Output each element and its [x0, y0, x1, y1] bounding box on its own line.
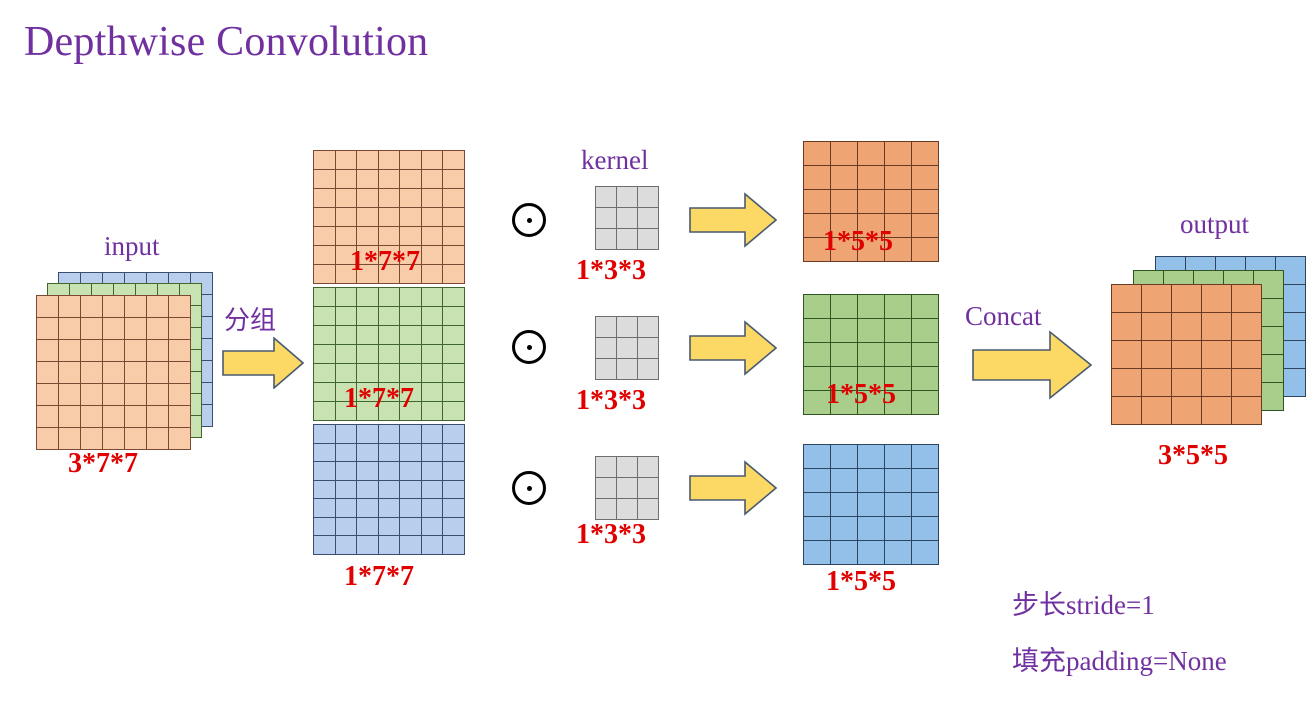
grid-cell — [422, 326, 444, 345]
blue-feature-map — [313, 424, 465, 555]
grid-cell — [422, 151, 444, 170]
grid-cell — [147, 340, 169, 362]
grid-cell — [379, 170, 401, 189]
green-feature-map-dims: 1*7*7 — [344, 383, 414, 415]
grid-cell — [443, 425, 465, 444]
grid-cell — [443, 518, 465, 537]
grid-cell — [357, 536, 379, 555]
grid-cell — [59, 384, 81, 406]
grid-cell — [1142, 341, 1172, 369]
grid-cell — [831, 166, 858, 190]
grid-cell — [336, 364, 358, 383]
grid-cell — [59, 406, 81, 428]
grid-cell — [314, 189, 336, 208]
grid-cell — [336, 499, 358, 518]
grid-cell — [422, 345, 444, 364]
grid-cell — [400, 189, 422, 208]
grid-cell — [831, 142, 858, 166]
grid-cell — [1172, 397, 1202, 425]
grid-cell — [912, 190, 939, 214]
green-result-map-dims: 1*5*5 — [826, 379, 896, 411]
grid-cell — [379, 481, 401, 500]
grid-cell — [357, 307, 379, 326]
grid-cell — [596, 208, 617, 229]
grid-cell — [422, 462, 444, 481]
group-arrow-label: 分组 — [224, 300, 276, 337]
grid-cell — [885, 469, 912, 493]
grid-cell — [443, 364, 465, 383]
grid-cell — [147, 318, 169, 340]
orange-result-map-dims: 1*5*5 — [823, 226, 893, 258]
grid-cell — [147, 362, 169, 384]
grid-cell — [169, 362, 191, 384]
grid-cell — [81, 318, 103, 340]
grid-cell — [804, 142, 831, 166]
grid-cell — [103, 428, 125, 450]
grid-cell — [1172, 369, 1202, 397]
grid-cell — [617, 187, 638, 208]
grid-cell — [596, 457, 617, 478]
grid-cell — [59, 428, 81, 450]
grid-cell — [858, 541, 885, 565]
input-dims-label: 3*7*7 — [68, 448, 138, 480]
grid-cell — [885, 343, 912, 367]
grid-cell — [314, 481, 336, 500]
grid-cell — [1232, 341, 1262, 369]
input-stack-orange-layer — [36, 295, 191, 450]
grid-cell — [804, 469, 831, 493]
grid-cell — [422, 246, 444, 265]
orange-feature-map-dims: 1*7*7 — [350, 246, 420, 278]
grid-cell — [912, 295, 939, 319]
grid-cell — [336, 425, 358, 444]
grid-cell — [379, 462, 401, 481]
kernel-2 — [595, 316, 659, 380]
grid-cell — [357, 170, 379, 189]
grid-cell — [379, 288, 401, 307]
grid-cell — [400, 151, 422, 170]
grid-cell — [314, 151, 336, 170]
grid-cell — [169, 296, 191, 318]
grid-cell — [443, 227, 465, 246]
grid-cell — [422, 481, 444, 500]
diagram-canvas: Depthwise Convolution input 3*7*7 分组 1*7… — [0, 0, 1313, 726]
grid-cell — [314, 170, 336, 189]
grid-cell — [638, 187, 659, 208]
input-stack — [36, 272, 236, 442]
grid-cell — [37, 428, 59, 450]
grid-cell — [103, 406, 125, 428]
grid-cell — [858, 445, 885, 469]
grid-cell — [804, 493, 831, 517]
grid-cell — [443, 383, 465, 402]
grid-cell — [885, 517, 912, 541]
grid-cell — [1232, 369, 1262, 397]
grid-cell — [617, 457, 638, 478]
grid-cell — [1142, 313, 1172, 341]
grid-cell — [804, 166, 831, 190]
grid-cell — [400, 536, 422, 555]
grid-cell — [443, 265, 465, 284]
grid-cell — [357, 345, 379, 364]
grid-cell — [1112, 313, 1142, 341]
grid-cell — [1202, 397, 1232, 425]
grid-cell — [885, 295, 912, 319]
grid-cell — [422, 383, 444, 402]
grid-cell — [858, 142, 885, 166]
grid-cell — [804, 541, 831, 565]
kernel-2-dims: 1*3*3 — [576, 385, 646, 417]
grid-cell — [357, 364, 379, 383]
grid-cell — [885, 190, 912, 214]
grid-cell — [422, 170, 444, 189]
grid-cell — [638, 499, 659, 520]
grid-cell — [638, 229, 659, 250]
grid-cell — [1232, 285, 1262, 313]
grid-cell — [379, 151, 401, 170]
grid-cell — [596, 229, 617, 250]
grid-cell — [638, 359, 659, 380]
grid-cell — [125, 340, 147, 362]
grid-cell — [638, 338, 659, 359]
grid-cell — [169, 384, 191, 406]
grid-cell — [379, 345, 401, 364]
grid-cell — [81, 362, 103, 384]
grid-cell — [379, 326, 401, 345]
grid-cell — [314, 265, 336, 284]
output-stack — [1111, 256, 1311, 436]
output-label: output — [1180, 209, 1249, 240]
grid-cell — [858, 517, 885, 541]
grid-cell — [1142, 285, 1172, 313]
grid-cell — [831, 445, 858, 469]
grid-cell — [400, 208, 422, 227]
grid-cell — [59, 362, 81, 384]
grid-cell — [314, 518, 336, 537]
grid-cell — [885, 142, 912, 166]
grid-cell — [169, 428, 191, 450]
grid-cell — [596, 478, 617, 499]
grid-cell — [912, 319, 939, 343]
grid-cell — [336, 326, 358, 345]
grid-cell — [422, 208, 444, 227]
grid-cell — [336, 151, 358, 170]
grid-cell — [443, 307, 465, 326]
input-label: input — [104, 231, 160, 262]
grid-cell — [314, 383, 336, 402]
grid-cell — [336, 481, 358, 500]
grid-cell — [422, 536, 444, 555]
grid-cell — [858, 295, 885, 319]
grid-cell — [443, 246, 465, 265]
grid-cell — [169, 406, 191, 428]
grid-cell — [422, 288, 444, 307]
grid-cell — [1202, 341, 1232, 369]
padding-note: 填充padding=None — [1012, 639, 1227, 678]
grid-cell — [617, 208, 638, 229]
conv-arrow-icon-3 — [689, 460, 777, 521]
kernel-3 — [595, 456, 659, 520]
grid-cell — [81, 296, 103, 318]
blue-result-map-dims: 1*5*5 — [826, 566, 896, 598]
grid-cell — [400, 307, 422, 326]
grid-cell — [422, 265, 444, 284]
grid-cell — [422, 402, 444, 421]
grid-cell — [422, 444, 444, 463]
grid-cell — [912, 391, 939, 415]
grid-cell — [1142, 397, 1172, 425]
concat-arrow-icon — [972, 330, 1092, 405]
grid-cell — [314, 307, 336, 326]
grid-cell — [831, 343, 858, 367]
grid-cell — [617, 317, 638, 338]
grid-cell — [37, 340, 59, 362]
grid-cell — [379, 208, 401, 227]
grid-cell — [336, 345, 358, 364]
grid-cell — [336, 288, 358, 307]
concat-arrow-label: Concat — [965, 301, 1041, 332]
grid-cell — [422, 499, 444, 518]
grid-cell — [1172, 285, 1202, 313]
grid-cell — [400, 227, 422, 246]
grid-cell — [443, 151, 465, 170]
grid-cell — [443, 288, 465, 307]
grid-cell — [125, 384, 147, 406]
grid-cell — [314, 536, 336, 555]
grid-cell — [912, 166, 939, 190]
grid-cell — [400, 444, 422, 463]
grid-cell — [443, 481, 465, 500]
grid-cell — [314, 444, 336, 463]
grid-cell — [1142, 369, 1172, 397]
grid-cell — [831, 295, 858, 319]
grid-cell — [37, 296, 59, 318]
grid-cell — [617, 359, 638, 380]
grid-cell — [804, 190, 831, 214]
grid-cell — [336, 189, 358, 208]
grid-cell — [443, 345, 465, 364]
grid-cell — [638, 208, 659, 229]
grid-cell — [885, 445, 912, 469]
grid-cell — [400, 326, 422, 345]
grid-cell — [314, 402, 336, 421]
grid-cell — [103, 340, 125, 362]
grid-cell — [638, 478, 659, 499]
blue-result-map — [803, 444, 939, 565]
grid-cell — [912, 142, 939, 166]
grid-cell — [912, 343, 939, 367]
grid-cell — [443, 536, 465, 555]
grid-cell — [858, 190, 885, 214]
grid-cell — [596, 359, 617, 380]
grid-cell — [314, 326, 336, 345]
grid-cell — [357, 208, 379, 227]
grid-cell — [1232, 313, 1262, 341]
grid-cell — [379, 444, 401, 463]
odot-operator-icon-3 — [512, 471, 546, 505]
grid-cell — [314, 246, 336, 265]
grid-cell — [357, 518, 379, 537]
kernel-1 — [595, 186, 659, 250]
grid-cell — [831, 493, 858, 517]
grid-cell — [912, 493, 939, 517]
grid-cell — [858, 469, 885, 493]
grid-cell — [379, 364, 401, 383]
grid-cell — [443, 170, 465, 189]
grid-cell — [858, 493, 885, 517]
grid-cell — [400, 499, 422, 518]
grid-cell — [357, 288, 379, 307]
grid-cell — [314, 227, 336, 246]
grid-cell — [1112, 285, 1142, 313]
grid-cell — [400, 425, 422, 444]
grid-cell — [314, 208, 336, 227]
blue-feature-map-dims: 1*7*7 — [344, 561, 414, 593]
grid-cell — [885, 319, 912, 343]
grid-cell — [422, 518, 444, 537]
grid-cell — [885, 493, 912, 517]
grid-cell — [81, 340, 103, 362]
grid-cell — [81, 428, 103, 450]
grid-cell — [858, 319, 885, 343]
grid-cell — [1112, 341, 1142, 369]
grid-cell — [1202, 285, 1232, 313]
grid-cell — [400, 170, 422, 189]
grid-cell — [400, 288, 422, 307]
grid-cell — [885, 166, 912, 190]
grid-cell — [1202, 369, 1232, 397]
grid-cell — [336, 307, 358, 326]
page-title: Depthwise Convolution — [24, 18, 428, 66]
grid-cell — [125, 406, 147, 428]
grid-cell — [357, 444, 379, 463]
output-dims-label: 3*5*5 — [1158, 440, 1228, 472]
grid-cell — [1172, 341, 1202, 369]
grid-cell — [379, 518, 401, 537]
grid-cell — [379, 425, 401, 444]
grid-cell — [357, 462, 379, 481]
grid-cell — [804, 319, 831, 343]
grid-cell — [379, 307, 401, 326]
grid-cell — [804, 295, 831, 319]
grid-cell — [912, 214, 939, 238]
grid-cell — [147, 428, 169, 450]
grid-cell — [357, 151, 379, 170]
grid-cell — [357, 481, 379, 500]
grid-cell — [400, 518, 422, 537]
grid-cell — [858, 343, 885, 367]
group-arrow-icon — [222, 337, 304, 394]
grid-cell — [1112, 369, 1142, 397]
grid-cell — [81, 384, 103, 406]
grid-cell — [804, 517, 831, 541]
grid-cell — [336, 444, 358, 463]
grid-cell — [37, 318, 59, 340]
grid-cell — [596, 499, 617, 520]
grid-cell — [400, 345, 422, 364]
grid-cell — [357, 227, 379, 246]
grid-cell — [314, 462, 336, 481]
grid-cell — [912, 445, 939, 469]
grid-cell — [804, 343, 831, 367]
grid-cell — [59, 340, 81, 362]
grid-cell — [422, 189, 444, 208]
grid-cell — [357, 499, 379, 518]
grid-cell — [638, 457, 659, 478]
grid-cell — [379, 189, 401, 208]
grid-cell — [596, 338, 617, 359]
grid-cell — [37, 384, 59, 406]
grid-cell — [422, 307, 444, 326]
grid-cell — [885, 541, 912, 565]
grid-cell — [831, 469, 858, 493]
grid-cell — [422, 364, 444, 383]
grid-cell — [314, 364, 336, 383]
stride-note: 步长stride=1 — [1012, 583, 1155, 622]
grid-cell — [1232, 397, 1262, 425]
grid-cell — [59, 296, 81, 318]
grid-cell — [125, 318, 147, 340]
grid-cell — [336, 170, 358, 189]
grid-cell — [169, 340, 191, 362]
grid-cell — [831, 319, 858, 343]
grid-cell — [314, 288, 336, 307]
grid-cell — [147, 406, 169, 428]
grid-cell — [314, 425, 336, 444]
conv-arrow-icon-1 — [689, 192, 777, 253]
grid-cell — [912, 238, 939, 262]
grid-cell — [443, 402, 465, 421]
odot-operator-icon-2 — [512, 330, 546, 364]
grid-cell — [1112, 397, 1142, 425]
grid-cell — [596, 187, 617, 208]
grid-cell — [422, 425, 444, 444]
grid-cell — [59, 318, 81, 340]
grid-cell — [443, 499, 465, 518]
grid-cell — [617, 499, 638, 520]
grid-cell — [443, 462, 465, 481]
grid-cell — [125, 296, 147, 318]
grid-cell — [37, 406, 59, 428]
grid-cell — [617, 478, 638, 499]
grid-cell — [912, 367, 939, 391]
grid-cell — [379, 536, 401, 555]
grid-cell — [379, 499, 401, 518]
grid-cell — [357, 326, 379, 345]
grid-cell — [617, 229, 638, 250]
grid-cell — [103, 318, 125, 340]
grid-cell — [638, 317, 659, 338]
grid-cell — [422, 227, 444, 246]
grid-cell — [804, 445, 831, 469]
output-stack-orange-layer — [1111, 284, 1262, 425]
kernel-label: kernel — [581, 145, 648, 176]
grid-cell — [37, 362, 59, 384]
grid-cell — [103, 296, 125, 318]
kernel-1-dims: 1*3*3 — [576, 255, 646, 287]
grid-cell — [336, 208, 358, 227]
grid-cell — [831, 541, 858, 565]
grid-cell — [357, 189, 379, 208]
grid-cell — [912, 517, 939, 541]
conv-arrow-icon-2 — [689, 320, 777, 381]
grid-cell — [336, 462, 358, 481]
grid-cell — [912, 541, 939, 565]
grid-cell — [1202, 313, 1232, 341]
grid-cell — [125, 428, 147, 450]
grid-cell — [357, 425, 379, 444]
grid-cell — [379, 227, 401, 246]
